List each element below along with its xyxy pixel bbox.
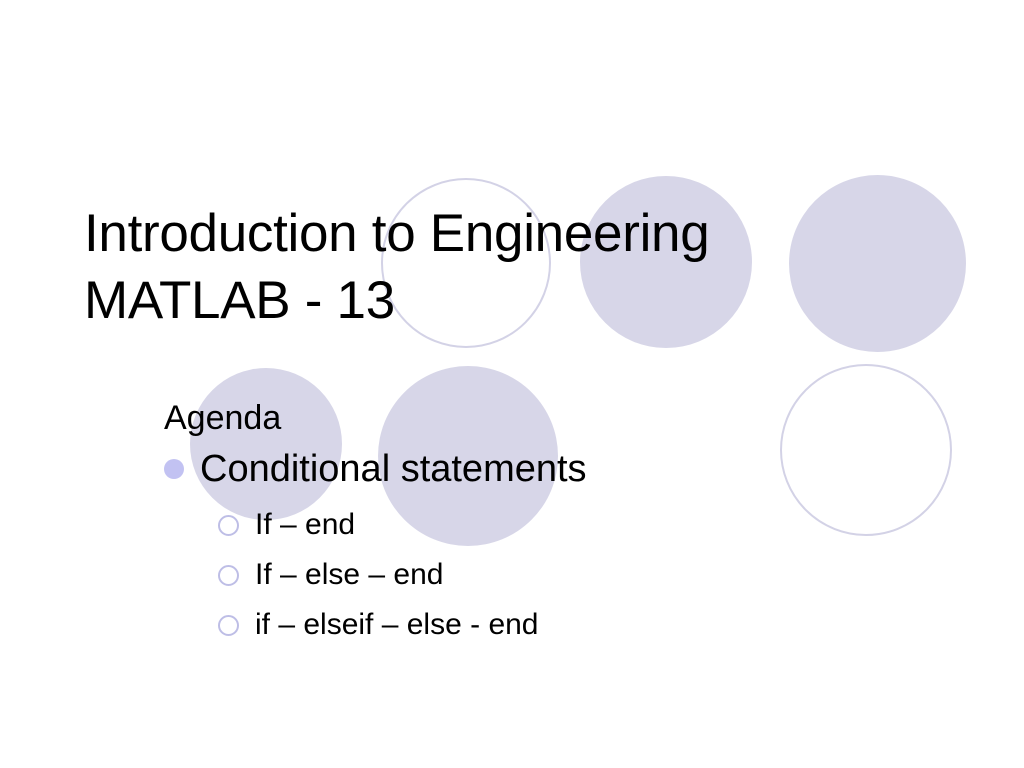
sub-bullet-label: if – elseif – else - end	[255, 605, 539, 645]
sub-bullet-label: If – else – end	[255, 555, 443, 595]
sub-bullet-item-if-end: If – end	[218, 500, 944, 550]
bullet-item-conditional-statements: Conditional statements	[164, 444, 944, 494]
hollow-circle-bullet-icon	[218, 615, 239, 636]
slide-title-line-2: MATLAB - 13	[84, 271, 395, 330]
sub-bullet-list: If – end If – else – end if – elseif – e…	[218, 500, 944, 650]
slide-content: Introduction to EngineeringMATLAB - 13 A…	[0, 0, 1024, 768]
sub-bullet-item-if-else-end: If – else – end	[218, 550, 944, 600]
sub-bullet-item-if-elseif-else-end: if – elseif – else - end	[218, 600, 944, 650]
agenda-heading: Agenda	[164, 396, 944, 440]
sub-bullet-label: If – end	[255, 505, 355, 545]
presentation-slide: Introduction to EngineeringMATLAB - 13 A…	[0, 0, 1024, 768]
slide-title-line-1: Introduction to Engineering	[84, 204, 709, 263]
bullet-label: Conditional statements	[200, 445, 587, 493]
hollow-circle-bullet-icon	[218, 515, 239, 536]
hollow-circle-bullet-icon	[218, 565, 239, 586]
slide-body: Agenda Conditional statements If – end I…	[84, 396, 944, 650]
slide-title: Introduction to EngineeringMATLAB - 13	[84, 200, 904, 334]
filled-circle-bullet-icon	[164, 459, 184, 479]
